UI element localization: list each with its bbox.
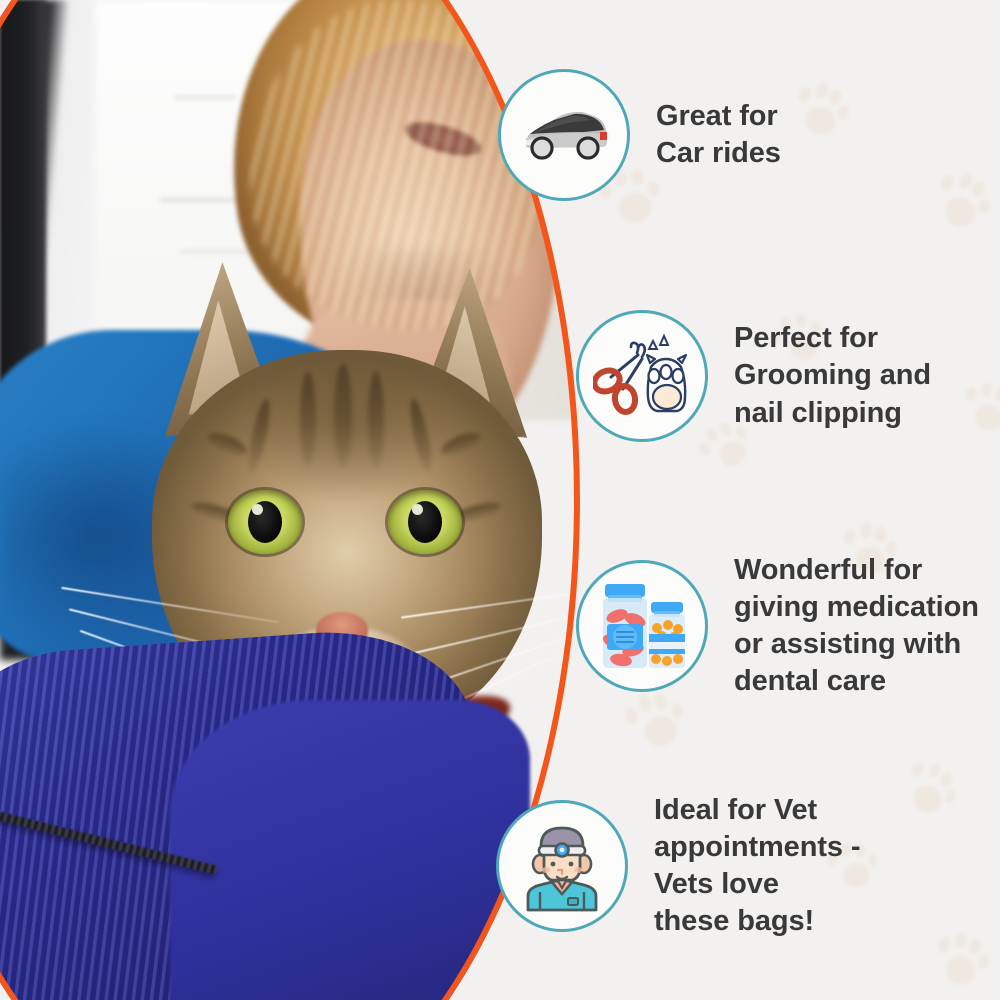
feature-vet-appointments: Ideal for Vet appointments - Vets love t… bbox=[496, 792, 860, 940]
wall-detail-line bbox=[180, 250, 250, 253]
cat-eye-glint bbox=[412, 504, 423, 515]
paw-print-decoration bbox=[919, 160, 1000, 246]
feature-label: Wonderful for giving medication or assis… bbox=[734, 552, 979, 700]
feature-car-rides: Great for Car rides bbox=[498, 69, 781, 201]
cat-stripe bbox=[300, 372, 316, 468]
cat-eye-right bbox=[388, 490, 462, 554]
wall-detail-line bbox=[175, 96, 235, 99]
cat-eye-left bbox=[228, 490, 302, 554]
feature-icon-circle bbox=[576, 310, 708, 442]
medicine-bottles-icon bbox=[593, 580, 691, 672]
feature-grooming: Perfect for Grooming and nail clipping bbox=[576, 310, 931, 442]
feature-label: Perfect for Grooming and nail clipping bbox=[734, 320, 931, 431]
feature-icon-circle bbox=[576, 560, 708, 692]
cat-stripe bbox=[368, 372, 384, 468]
infographic-canvas: Great for Car rides bbox=[0, 0, 1000, 1000]
nail-clipper-paw-icon bbox=[593, 333, 691, 419]
car-icon bbox=[518, 104, 610, 166]
paw-print-decoration bbox=[954, 375, 1000, 445]
carrier-smooth-fabric bbox=[170, 700, 530, 1000]
feature-icon-circle bbox=[496, 800, 628, 932]
paw-print-decoration bbox=[922, 923, 997, 1000]
feature-icon-circle bbox=[498, 69, 630, 201]
veterinarian-icon bbox=[514, 820, 610, 912]
paw-print-decoration bbox=[782, 72, 859, 151]
feature-label: Great for Car rides bbox=[656, 98, 781, 172]
feature-medication: Wonderful for giving medication or assis… bbox=[576, 552, 979, 700]
cat-eye-glint bbox=[252, 504, 263, 515]
cat-stripe bbox=[334, 364, 352, 468]
feature-label: Ideal for Vet appointments - Vets love t… bbox=[654, 792, 860, 940]
paw-print-decoration bbox=[888, 750, 969, 833]
